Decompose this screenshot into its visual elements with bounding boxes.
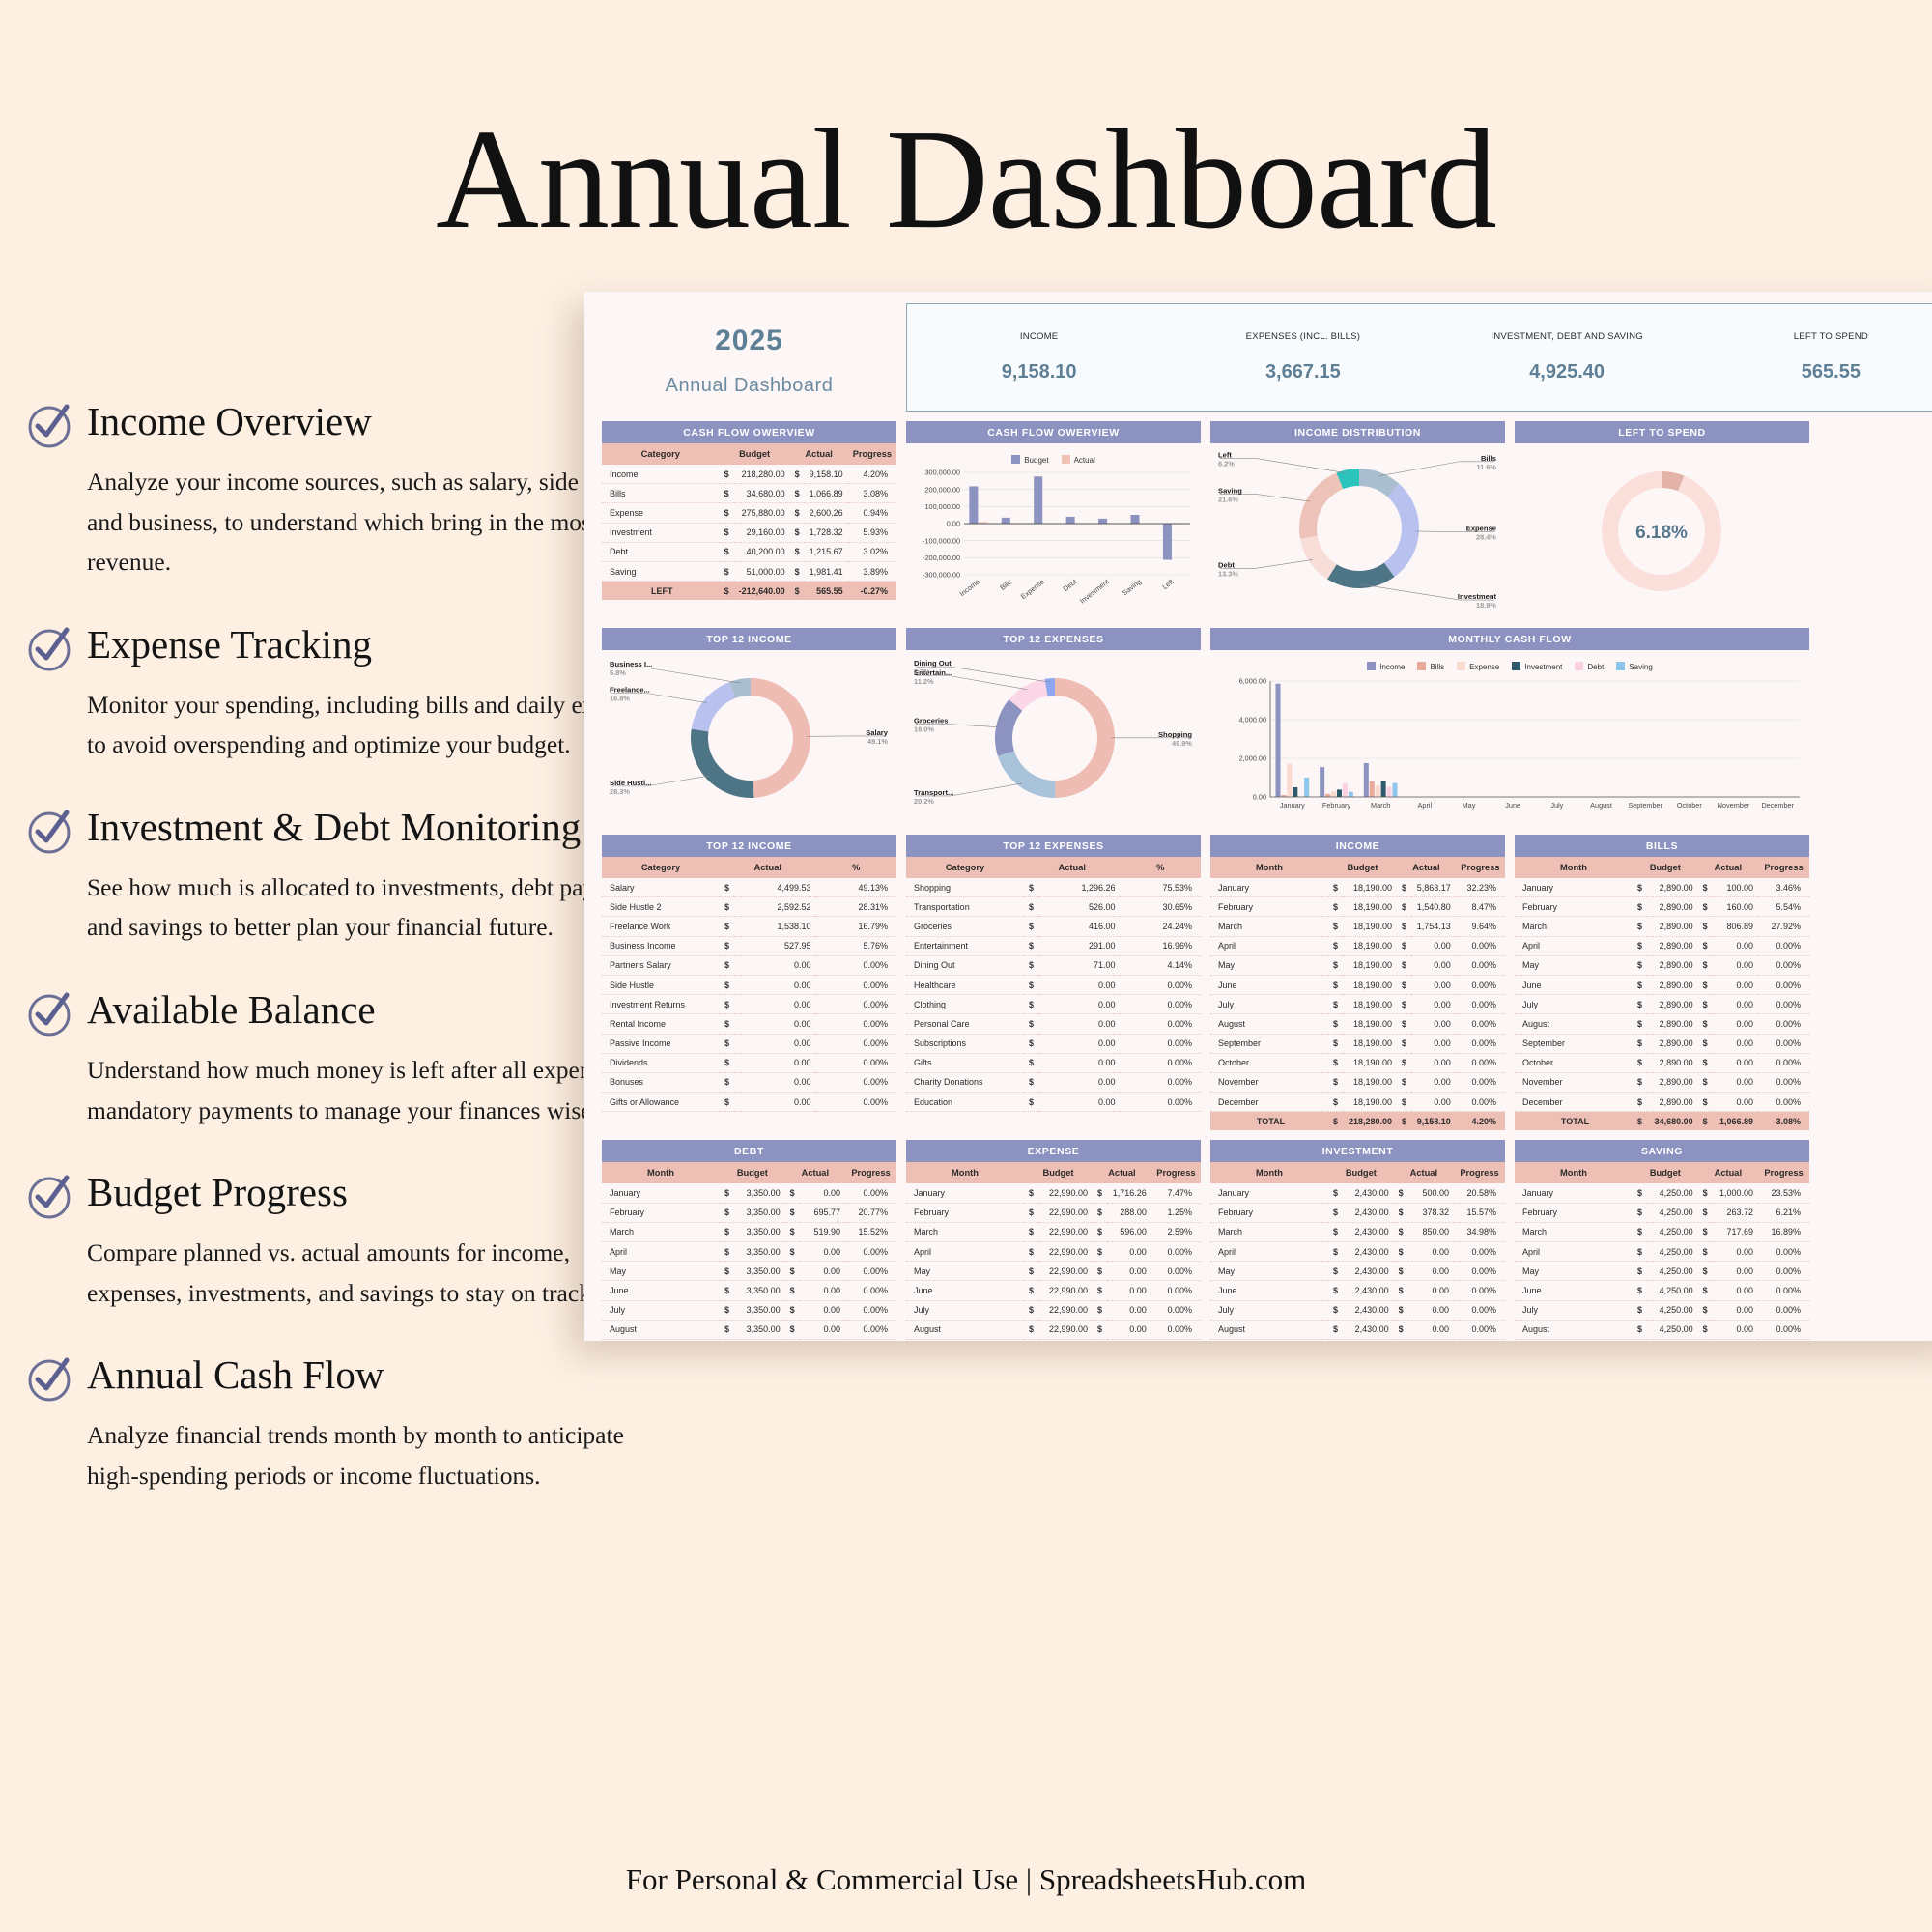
column-header: Budget bbox=[1633, 857, 1698, 878]
table-row: December$18,190.00$0.000.00% bbox=[1210, 1093, 1505, 1112]
left-to-spend-card: LEFT TO SPEND 6.18% bbox=[1515, 421, 1809, 618]
feature-title: Available Balance bbox=[87, 989, 376, 1031]
svg-text:18.9%: 18.9% bbox=[1476, 601, 1496, 609]
dashboard-panel: 2025 Annual Dashboard INCOME9,158.10EXPE… bbox=[584, 292, 1932, 1341]
table-row: July$22,990.00$0.000.00% bbox=[906, 1300, 1201, 1320]
svg-text:4,000.00: 4,000.00 bbox=[1239, 716, 1266, 724]
table-row: September$18,190.00$0.000.00% bbox=[1210, 1034, 1505, 1053]
table-row: June$4,250.00$0.000.00% bbox=[1515, 1281, 1809, 1300]
kpi-bar: INCOME9,158.10EXPENSES (INCL. BILLS)3,66… bbox=[906, 303, 1932, 412]
svg-text:Bills: Bills bbox=[998, 577, 1013, 592]
svg-text:49.1%: 49.1% bbox=[867, 737, 888, 746]
svg-text:Left: Left bbox=[1218, 450, 1232, 459]
table-row: Freelance Work$1,538.1016.79% bbox=[602, 917, 896, 936]
donut-slice bbox=[692, 682, 736, 731]
check-circle-icon bbox=[27, 403, 73, 449]
kpi-label: EXPENSES (INCL. BILLS) bbox=[1171, 331, 1435, 342]
table-row: April$3,350.00$0.000.00% bbox=[602, 1242, 896, 1262]
table-row: Education$0.000.00% bbox=[906, 1093, 1201, 1112]
debt-month-table-header: DEBT bbox=[602, 1140, 896, 1162]
bar bbox=[1376, 785, 1380, 797]
svg-text:Transport...: Transport... bbox=[914, 788, 953, 797]
table-row: September$2,430.00$0.000.00% bbox=[1210, 1339, 1505, 1341]
svg-text:11.6%: 11.6% bbox=[1476, 463, 1496, 471]
feature-description: See how much is allocated to investments… bbox=[87, 867, 667, 948]
top12-income-donut: Salary49.1%Side Hustl...28.3%Freelance..… bbox=[602, 650, 896, 825]
svg-text:300,000.00: 300,000.00 bbox=[924, 469, 960, 477]
svg-text:-300,000.00: -300,000.00 bbox=[923, 571, 960, 580]
feature-description: Analyze financial trends month by month … bbox=[87, 1415, 667, 1495]
table-row: Income$218,280.00$9,158.104.20% bbox=[602, 465, 896, 484]
expense-month-table: MonthBudgetActualProgressJanuary$22,990.… bbox=[906, 1162, 1201, 1341]
monthly-cash-flow-card: MONTHLY CASH FLOW IncomeBillsExpenseInve… bbox=[1210, 628, 1809, 825]
cash-flow-chart-header: CASH FLOW OWERVIEW bbox=[906, 421, 1201, 443]
table-row: Investment Returns$0.000.00% bbox=[602, 995, 896, 1014]
bar bbox=[1002, 518, 1010, 524]
svg-text:Debt: Debt bbox=[1062, 577, 1079, 593]
table-row: May$18,190.00$0.000.00% bbox=[1210, 955, 1505, 975]
svg-text:Side Hustl...: Side Hustl... bbox=[610, 779, 651, 787]
donut-svg: Bills11.6%Expense28.4%Investment18.9%Deb… bbox=[1214, 449, 1500, 609]
svg-text:April: April bbox=[1418, 801, 1433, 810]
svg-text:September: September bbox=[1628, 801, 1662, 810]
feature-title: Annual Cash Flow bbox=[87, 1354, 384, 1396]
column-header: Budget bbox=[1328, 857, 1397, 878]
kpi-value: 565.55 bbox=[1699, 361, 1932, 384]
svg-text:Business I...: Business I... bbox=[610, 660, 652, 668]
check-circle-icon bbox=[27, 626, 73, 672]
table-row: LEFT$-212,640.00$565.55-0.27% bbox=[602, 582, 896, 601]
legend-item: Saving bbox=[1616, 662, 1652, 671]
top12-income-table-card: TOP 12 INCOME CategoryActual%Salary$4,49… bbox=[602, 835, 896, 1130]
donut-slice bbox=[1299, 473, 1343, 539]
saving-month-table-header: SAVING bbox=[1515, 1140, 1809, 1162]
svg-text:20.2%: 20.2% bbox=[914, 797, 934, 806]
investment-month-table-header: INVESTMENT bbox=[1210, 1140, 1505, 1162]
top12-income-table-header: TOP 12 INCOME bbox=[602, 835, 896, 857]
table-row: Gifts$0.000.00% bbox=[906, 1053, 1201, 1072]
svg-text:Expense: Expense bbox=[1019, 577, 1046, 601]
bar-chart-svg: 300,000.00200,000.00100,000.000.00-100,0… bbox=[910, 469, 1196, 613]
table-row: TOTAL$218,280.00$9,158.104.20% bbox=[1210, 1112, 1505, 1131]
check-circle-icon bbox=[27, 991, 73, 1037]
table-row: July$2,430.00$0.000.00% bbox=[1210, 1300, 1505, 1320]
column-header: Category bbox=[602, 443, 720, 465]
svg-text:49.9%: 49.9% bbox=[1172, 739, 1192, 748]
svg-text:Investment: Investment bbox=[1458, 592, 1497, 601]
dashboard-year: 2025 bbox=[602, 325, 896, 357]
table-row: August$2,890.00$0.000.00% bbox=[1515, 1014, 1809, 1034]
donut-slice bbox=[1327, 563, 1394, 588]
svg-text:6,000.00: 6,000.00 bbox=[1239, 677, 1266, 686]
table-row: Partner's Salary$0.000.00% bbox=[602, 955, 896, 975]
svg-text:Debt: Debt bbox=[1218, 560, 1235, 569]
table-row: August$22,990.00$0.000.00% bbox=[906, 1320, 1201, 1339]
saving-month-table-card: SAVING MonthBudgetActualProgressJanuary$… bbox=[1515, 1140, 1809, 1341]
income-month-table: MonthBudgetActualProgressJanuary$18,190.… bbox=[1210, 857, 1505, 1130]
saving-month-table: MonthBudgetActualProgressJanuary$4,250.0… bbox=[1515, 1162, 1809, 1341]
legend-item: Debt bbox=[1575, 662, 1604, 671]
bar bbox=[1387, 787, 1392, 797]
top12-expenses-table: CategoryActual%Shopping$1,296.2675.53%Tr… bbox=[906, 857, 1201, 1112]
donut-slice bbox=[1055, 678, 1115, 798]
table-row: Dividends$0.000.00% bbox=[602, 1053, 896, 1072]
top12-expenses-table-header: TOP 12 EXPENSES bbox=[906, 835, 1201, 857]
column-header: Actual bbox=[785, 1162, 845, 1183]
column-header: Budget bbox=[1024, 1162, 1093, 1183]
table-row: March$18,190.00$1,754.139.64% bbox=[1210, 917, 1505, 936]
table-row: August$18,190.00$0.000.00% bbox=[1210, 1014, 1505, 1034]
bar bbox=[1034, 476, 1042, 524]
svg-text:0.00: 0.00 bbox=[1253, 793, 1266, 802]
svg-text:100,000.00: 100,000.00 bbox=[924, 502, 960, 511]
left-to-spend-gauge: 6.18% bbox=[1515, 443, 1809, 613]
table-row: October$2,890.00$0.000.00% bbox=[1515, 1053, 1809, 1072]
page-title: Annual Dashboard bbox=[0, 0, 1932, 251]
svg-text:16.8%: 16.8% bbox=[610, 694, 630, 702]
debt-month-table: MonthBudgetActualProgressJanuary$3,350.0… bbox=[602, 1162, 896, 1341]
svg-text:December: December bbox=[1761, 801, 1794, 810]
kpi-label: INCOME bbox=[907, 331, 1171, 342]
investment-month-table: MonthBudgetActualProgressJanuary$2,430.0… bbox=[1210, 1162, 1505, 1341]
kpi-cell: EXPENSES (INCL. BILLS)3,667.15 bbox=[1171, 331, 1435, 384]
table-row: October$18,190.00$0.000.00% bbox=[1210, 1053, 1505, 1072]
table-row: September$4,250.00$0.000.00% bbox=[1515, 1339, 1809, 1341]
feature-description: Analyze your income sources, such as sal… bbox=[87, 462, 667, 582]
svg-text:Shopping: Shopping bbox=[1158, 730, 1192, 739]
svg-text:Saving: Saving bbox=[1218, 486, 1242, 495]
table-row: March$4,250.00$717.6916.89% bbox=[1515, 1222, 1809, 1241]
investment-month-table-card: INVESTMENT MonthBudgetActualProgressJanu… bbox=[1210, 1140, 1505, 1341]
kpi-cell: INVESTMENT, DEBT AND SAVING4,925.40 bbox=[1435, 331, 1699, 384]
table-row: November$18,190.00$0.000.00% bbox=[1210, 1072, 1505, 1092]
svg-text:June: June bbox=[1505, 801, 1520, 810]
svg-text:Freelance...: Freelance... bbox=[610, 685, 650, 694]
svg-text:Income: Income bbox=[958, 577, 981, 598]
top12-expenses-chart-header: TOP 12 EXPENSES bbox=[906, 628, 1201, 650]
donut-svg: Shopping49.9%Transport...20.2%Groceries1… bbox=[910, 656, 1196, 820]
column-header: Actual bbox=[1394, 1162, 1454, 1183]
table-row: June$2,890.00$0.000.00% bbox=[1515, 975, 1809, 994]
table-row: April$2,890.00$0.000.00% bbox=[1515, 936, 1809, 955]
table-row: August$3,350.00$0.000.00% bbox=[602, 1320, 896, 1339]
column-header: Actual bbox=[1093, 1162, 1151, 1183]
check-circle-icon bbox=[27, 809, 73, 855]
table-row: June$18,190.00$0.000.00% bbox=[1210, 975, 1505, 994]
table-row: Investment$29,160.00$1,728.325.93% bbox=[602, 523, 896, 542]
legend-item: Expense bbox=[1457, 662, 1499, 671]
bar bbox=[1163, 524, 1172, 560]
table-row: Saving$51,000.00$1,981.413.89% bbox=[602, 561, 896, 581]
chart-legend: BudgetActual bbox=[910, 455, 1197, 465]
svg-text:21.6%: 21.6% bbox=[1218, 495, 1238, 503]
feature-description: Understand how much money is left after … bbox=[87, 1050, 667, 1130]
bar bbox=[1098, 519, 1107, 524]
table-row: Charity Donations$0.000.00% bbox=[906, 1072, 1201, 1092]
table-row: March$2,890.00$806.8927.92% bbox=[1515, 917, 1809, 936]
svg-text:May: May bbox=[1463, 801, 1476, 810]
bar bbox=[1293, 787, 1297, 797]
income-distribution-donut: Bills11.6%Expense28.4%Investment18.9%Deb… bbox=[1210, 443, 1505, 613]
table-row: June$2,430.00$0.000.00% bbox=[1210, 1281, 1505, 1300]
column-header: Progress bbox=[1454, 1162, 1505, 1183]
table-row: August$4,250.00$0.000.00% bbox=[1515, 1320, 1809, 1339]
column-header: Progress bbox=[1456, 857, 1505, 878]
feature-description: Monitor your spending, including bills a… bbox=[87, 685, 667, 765]
column-header: Budget bbox=[1633, 1162, 1698, 1183]
svg-text:200,000.00: 200,000.00 bbox=[924, 485, 960, 494]
table-row: February$2,430.00$378.3215.57% bbox=[1210, 1203, 1505, 1222]
table-row: January$2,430.00$500.0020.58% bbox=[1210, 1183, 1505, 1203]
table-row: March$2,430.00$850.0034.98% bbox=[1210, 1222, 1505, 1241]
column-header: Actual bbox=[1698, 1162, 1758, 1183]
column-header: Category bbox=[602, 857, 720, 878]
donut-slice bbox=[1300, 536, 1337, 580]
table-row: Salary$4,499.5349.13% bbox=[602, 878, 896, 897]
bar bbox=[1066, 517, 1075, 524]
feature-description: Compare planned vs. actual amounts for i… bbox=[87, 1233, 667, 1313]
column-header: Actual bbox=[1397, 857, 1456, 878]
svg-text:Saving: Saving bbox=[1121, 577, 1143, 597]
table-row: February$3,350.00$695.7720.77% bbox=[602, 1203, 896, 1222]
income-distribution-card: INCOME DISTRIBUTION Bills11.6%Expense28.… bbox=[1210, 421, 1505, 618]
column-header: % bbox=[815, 857, 896, 878]
expense-month-table-header: EXPENSE bbox=[906, 1140, 1201, 1162]
feature-title: Expense Tracking bbox=[87, 624, 372, 666]
table-row: Transportation$526.0030.65% bbox=[906, 897, 1201, 917]
donut-svg: 6.18% bbox=[1519, 449, 1804, 609]
column-header: Actual bbox=[720, 857, 815, 878]
table-row: May$2,430.00$0.000.00% bbox=[1210, 1262, 1505, 1281]
bar-chart-svg: 6,000.004,000.002,000.000.00JanuaryFebru… bbox=[1214, 675, 1805, 818]
column-header: Progress bbox=[1758, 1162, 1809, 1183]
table-row: May$2,890.00$0.000.00% bbox=[1515, 955, 1809, 975]
svg-text:July: July bbox=[1550, 801, 1563, 810]
bar bbox=[1287, 764, 1292, 797]
table-row: Rental Income$0.000.00% bbox=[602, 1014, 896, 1034]
column-header: % bbox=[1120, 857, 1201, 878]
svg-text:28.3%: 28.3% bbox=[610, 787, 630, 796]
column-header: Month bbox=[602, 1162, 720, 1183]
table-row: Healthcare$0.000.00% bbox=[906, 975, 1201, 994]
svg-text:Salary: Salary bbox=[866, 728, 889, 737]
chart-legend: IncomeBillsExpenseInvestmentDebtSaving bbox=[1214, 662, 1805, 671]
bar bbox=[1364, 763, 1369, 797]
kpi-value: 3,667.15 bbox=[1171, 361, 1435, 384]
table-row: January$4,250.00$1,000.0023.53% bbox=[1515, 1183, 1809, 1203]
feature-title: Budget Progress bbox=[87, 1172, 348, 1213]
feature-title: Investment & Debt Monitoring bbox=[87, 807, 581, 848]
table-row: January$18,190.00$5,863.1732.23% bbox=[1210, 878, 1505, 897]
bills-month-table-card: BILLS MonthBudgetActualProgressJanuary$2… bbox=[1515, 835, 1809, 1130]
svg-text:0.00: 0.00 bbox=[947, 520, 960, 528]
svg-text:Expense: Expense bbox=[1466, 525, 1496, 533]
table-row: Personal Care$0.000.00% bbox=[906, 1014, 1201, 1034]
svg-text:Dining Out: Dining Out bbox=[914, 659, 952, 668]
table-row: June$22,990.00$0.000.00% bbox=[906, 1281, 1201, 1300]
income-distribution-header: INCOME DISTRIBUTION bbox=[1210, 421, 1505, 443]
legend-item: Budget bbox=[1011, 455, 1048, 465]
footer-text: For Personal & Commercial Use | Spreadsh… bbox=[0, 1862, 1932, 1897]
svg-text:Bills: Bills bbox=[1481, 454, 1496, 463]
column-header: Progress bbox=[848, 443, 896, 465]
table-row: February$22,990.00$288.001.25% bbox=[906, 1203, 1201, 1222]
column-header: Budget bbox=[720, 443, 790, 465]
income-month-table-card: INCOME MonthBudgetActualProgressJanuary$… bbox=[1210, 835, 1505, 1130]
bar bbox=[1275, 684, 1280, 797]
monthly-cash-flow-header: MONTHLY CASH FLOW bbox=[1210, 628, 1809, 650]
svg-text:February: February bbox=[1322, 801, 1351, 810]
kpi-value: 9,158.10 bbox=[907, 361, 1171, 384]
table-row: April$18,190.00$0.000.00% bbox=[1210, 936, 1505, 955]
bar bbox=[1343, 783, 1348, 797]
svg-text:Investment: Investment bbox=[1078, 577, 1111, 605]
kpi-label: INVESTMENT, DEBT AND SAVING bbox=[1435, 331, 1699, 342]
column-header: Month bbox=[1210, 1162, 1328, 1183]
cash-flow-bar-chart: BudgetActual300,000.00200,000.00100,000.… bbox=[906, 443, 1201, 618]
table-row: September$2,890.00$0.000.00% bbox=[1515, 1034, 1809, 1053]
table-row: November$2,890.00$0.000.00% bbox=[1515, 1072, 1809, 1092]
dashboard-subtitle: Annual Dashboard bbox=[602, 375, 896, 397]
svg-text:2.7%: 2.7% bbox=[914, 668, 930, 676]
gauge-value: 6.18% bbox=[1635, 523, 1688, 543]
svg-text:2,000.00: 2,000.00 bbox=[1239, 754, 1266, 763]
table-row: February$2,890.00$160.005.54% bbox=[1515, 897, 1809, 917]
bar bbox=[1130, 515, 1139, 524]
table-row: January$2,890.00$100.003.46% bbox=[1515, 878, 1809, 897]
svg-text:-200,000.00: -200,000.00 bbox=[923, 554, 960, 562]
table-row: May$3,350.00$0.000.00% bbox=[602, 1262, 896, 1281]
svg-text:Left: Left bbox=[1160, 577, 1175, 591]
debt-month-table-card: DEBT MonthBudgetActualProgressJanuary$3,… bbox=[602, 1140, 896, 1341]
cash-flow-table-header: CASH FLOW OWERVIEW bbox=[602, 421, 896, 443]
table-row: May$22,990.00$0.000.00% bbox=[906, 1262, 1201, 1281]
table-row: March$22,990.00$596.002.59% bbox=[906, 1222, 1201, 1241]
expense-month-table-card: EXPENSE MonthBudgetActualProgressJanuary… bbox=[906, 1140, 1201, 1341]
table-row: March$3,350.00$519.9015.52% bbox=[602, 1222, 896, 1241]
column-header: Month bbox=[906, 1162, 1024, 1183]
donut-svg: Salary49.1%Side Hustl...28.3%Freelance..… bbox=[606, 656, 892, 820]
check-circle-icon bbox=[27, 1174, 73, 1220]
table-row: July$18,190.00$0.000.00% bbox=[1210, 995, 1505, 1014]
table-row: Business Income$527.955.76% bbox=[602, 936, 896, 955]
bar bbox=[1325, 794, 1330, 797]
column-header: Budget bbox=[1328, 1162, 1394, 1183]
left-to-spend-header: LEFT TO SPEND bbox=[1515, 421, 1809, 443]
kpi-label: LEFT TO SPEND bbox=[1699, 331, 1932, 342]
table-row: January$22,990.00$1,716.267.47% bbox=[906, 1183, 1201, 1203]
legend-item: Actual bbox=[1062, 455, 1095, 465]
table-row: April$22,990.00$0.000.00% bbox=[906, 1242, 1201, 1262]
table-row: May$4,250.00$0.000.00% bbox=[1515, 1262, 1809, 1281]
table-row: June$3,350.00$0.000.00% bbox=[602, 1281, 896, 1300]
top12-expenses-chart-card: TOP 12 EXPENSES Shopping49.9%Transport..… bbox=[906, 628, 1201, 825]
table-row: TOTAL$34,680.00$1,066.893.08% bbox=[1515, 1112, 1809, 1131]
svg-text:January: January bbox=[1280, 801, 1305, 810]
column-header: Month bbox=[1515, 857, 1633, 878]
svg-text:16.0%: 16.0% bbox=[914, 725, 934, 734]
feature-title: Income Overview bbox=[87, 401, 372, 442]
column-header: Progress bbox=[845, 1162, 896, 1183]
table-row: April$4,250.00$0.000.00% bbox=[1515, 1242, 1809, 1262]
svg-text:11.2%: 11.2% bbox=[914, 677, 934, 686]
kpi-value: 4,925.40 bbox=[1435, 361, 1699, 384]
column-header: Progress bbox=[1758, 857, 1809, 878]
monthly-cash-flow-chart: IncomeBillsExpenseInvestmentDebtSaving6,… bbox=[1210, 650, 1809, 823]
svg-text:March: March bbox=[1371, 801, 1390, 810]
table-row: Expense$275,880.00$2,600.260.94% bbox=[602, 503, 896, 523]
legend-item: Bills bbox=[1417, 662, 1444, 671]
svg-text:28.4%: 28.4% bbox=[1476, 533, 1496, 542]
bills-month-table-header: BILLS bbox=[1515, 835, 1809, 857]
donut-slice bbox=[998, 751, 1055, 798]
table-row: Gifts or Allowance$0.000.00% bbox=[602, 1093, 896, 1112]
table-row: July$4,250.00$0.000.00% bbox=[1515, 1300, 1809, 1320]
kpi-cell: LEFT TO SPEND565.55 bbox=[1699, 331, 1932, 384]
column-header: Category bbox=[906, 857, 1024, 878]
cash-flow-table-card: CASH FLOW OWERVIEW CategoryBudgetActualP… bbox=[602, 421, 896, 618]
top12-income-chart-header: TOP 12 INCOME bbox=[602, 628, 896, 650]
table-row: Debt$40,200.00$1,215.673.02% bbox=[602, 542, 896, 561]
donut-slice bbox=[995, 699, 1022, 756]
bar bbox=[1320, 767, 1324, 797]
table-row: Bills$34,680.00$1,066.893.08% bbox=[602, 484, 896, 503]
top12-expenses-table-card: TOP 12 EXPENSES CategoryActual%Shopping$… bbox=[906, 835, 1201, 1130]
income-month-table-header: INCOME bbox=[1210, 835, 1505, 857]
svg-text:August: August bbox=[1590, 801, 1612, 810]
feature-item: Annual Cash FlowAnalyze financial trends… bbox=[27, 1354, 694, 1495]
legend-item: Income bbox=[1367, 662, 1405, 671]
bar bbox=[1349, 792, 1353, 797]
table-row: Dining Out$71.004.14% bbox=[906, 955, 1201, 975]
bar bbox=[1392, 783, 1397, 797]
top12-expenses-donut: Shopping49.9%Transport...20.2%Groceries1… bbox=[906, 650, 1201, 825]
table-row: September$22,990.00$0.000.00% bbox=[906, 1339, 1201, 1341]
table-row: Clothing$0.000.00% bbox=[906, 995, 1201, 1014]
table-row: Bonuses$0.000.00% bbox=[602, 1072, 896, 1092]
table-row: Subscriptions$0.000.00% bbox=[906, 1034, 1201, 1053]
column-header: Actual bbox=[1024, 857, 1120, 878]
table-row: April$2,430.00$0.000.00% bbox=[1210, 1242, 1505, 1262]
table-row: August$2,430.00$0.000.00% bbox=[1210, 1320, 1505, 1339]
bar bbox=[1304, 778, 1309, 797]
donut-slice bbox=[691, 729, 754, 798]
column-header: Progress bbox=[1151, 1162, 1201, 1183]
table-row: July$2,890.00$0.000.00% bbox=[1515, 995, 1809, 1014]
top12-income-chart-card: TOP 12 INCOME Salary49.1%Side Hustl...28… bbox=[602, 628, 896, 825]
check-circle-icon bbox=[27, 1356, 73, 1403]
column-header: Month bbox=[1515, 1162, 1633, 1183]
bar bbox=[1331, 791, 1336, 797]
bar bbox=[1370, 781, 1375, 797]
svg-text:-100,000.00: -100,000.00 bbox=[923, 536, 960, 545]
table-row: Shopping$1,296.2675.53% bbox=[906, 878, 1201, 897]
table-row: February$4,250.00$263.726.21% bbox=[1515, 1203, 1809, 1222]
kpi-cell: INCOME9,158.10 bbox=[907, 331, 1171, 384]
bills-month-table: MonthBudgetActualProgressJanuary$2,890.0… bbox=[1515, 857, 1809, 1130]
svg-text:5.8%: 5.8% bbox=[610, 668, 626, 677]
table-row: Side Hustle$0.000.00% bbox=[602, 975, 896, 994]
donut-slice bbox=[751, 678, 810, 798]
table-row: Groceries$416.0024.24% bbox=[906, 917, 1201, 936]
table-row: September$3,350.00$0.000.00% bbox=[602, 1339, 896, 1341]
column-header: Month bbox=[1210, 857, 1328, 878]
bar bbox=[969, 486, 978, 524]
table-row: Entertainment$291.0016.96% bbox=[906, 936, 1201, 955]
column-header: Actual bbox=[1698, 857, 1758, 878]
legend-item: Investment bbox=[1512, 662, 1562, 671]
bar bbox=[1381, 781, 1386, 797]
